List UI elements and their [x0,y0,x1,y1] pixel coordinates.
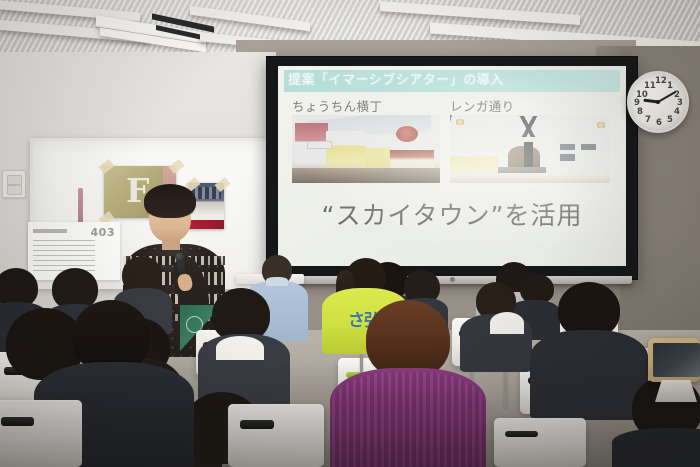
audience-head [366,300,450,378]
presentation-slide: 提案「イマーシブシアター」の導入 ちょうちん横丁 レンガ通り [278,66,626,266]
document-text-lines [33,240,95,274]
slide-photo-chouchin-yokocho [292,115,440,183]
arcade-street-photo [292,115,440,183]
arcade-shop-sign [307,141,333,149]
red-lantern [396,126,418,142]
arcade-stall [326,131,364,168]
arcade-floor [292,168,440,183]
classroom-chair[interactable] [228,404,324,467]
slide-photo-renga-dori [450,115,610,183]
mall-window [560,154,575,161]
screen-tray-dot [450,277,455,282]
chair-handle-slot [240,420,275,428]
mall-building-left [450,135,498,173]
turtleneck-rib-texture [332,372,484,467]
arcade-stall [365,134,390,167]
clock-numeral-9: 9 [634,99,640,108]
audience-sailor-collar [216,336,264,360]
mall-window [581,144,596,150]
classroom-presentation-photo: F 403 提案「イマーシブシアター」の導入 ちょうちん横丁 レンガ通り [0,0,700,467]
presenter-hair [144,184,196,218]
light-switch-plate[interactable] [2,170,26,198]
clock-numeral-12: 12 [655,77,667,86]
mall-floor [450,173,610,183]
slide-footer-text: “スカイタウン”を活用 [278,196,626,232]
wall-clock: 12 1 2 3 4 5 6 7 8 9 10 11 [627,71,689,133]
audience-body [530,330,648,420]
mall-lamp [597,122,605,128]
clock-numeral-4: 4 [674,108,680,117]
tablet-stand [655,380,697,402]
slide-title: 提案「イマーシブシアター」の導入 [288,69,504,88]
clock-center-pin [656,100,660,104]
mall-tree [524,142,534,166]
brick-mall-photo [450,115,610,183]
clock-numeral-8: 8 [637,108,643,117]
audience-collar [490,312,524,334]
clock-numeral-11: 11 [644,82,656,91]
slide-label-right: レンガ通り [450,96,515,115]
chair-handle-slot [1,417,34,426]
clock-numeral-1: 1 [667,82,673,91]
mall-lamp [456,119,464,125]
classroom-chair[interactable] [494,418,586,467]
classroom-chair[interactable] [0,400,82,467]
slide-label-left: ちょうちん横丁 [292,96,382,115]
mall-window [560,144,575,150]
tablet-screen[interactable] [653,343,700,377]
room-number-text: 403 [91,226,115,239]
audience-body [612,428,700,467]
mall-building-right [552,130,610,172]
clock-numeral-7: 7 [645,116,651,125]
clock-numeral-6: 6 [656,119,662,128]
chair-handle-slot [505,431,538,437]
document-header-bar [33,229,67,233]
clock-numeral-5: 5 [667,116,673,125]
audience-collar [266,277,288,286]
